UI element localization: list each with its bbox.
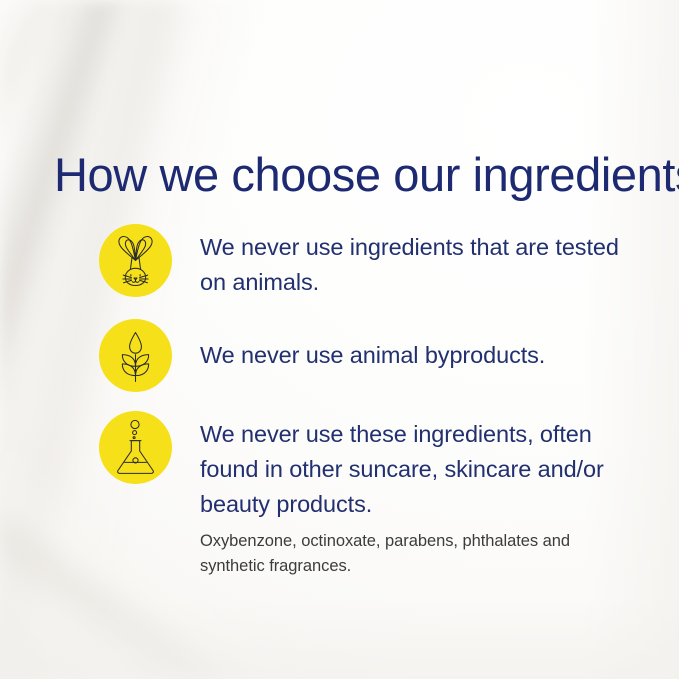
plant-leaf-icon <box>99 319 172 392</box>
content-wrapper: How we choose our ingredients <box>0 0 679 679</box>
list-item-subtext: Oxybenzone, octinoxate, parabens, phthal… <box>200 529 620 579</box>
list-item-text: We never use animal byproducts. <box>200 338 620 373</box>
list-item-body: We never use these ingredients, often fo… <box>200 417 620 522</box>
list-item-text: We never use ingredients that are tested… <box>200 230 620 300</box>
list-item-text: We never use these ingredients, often fo… <box>200 417 620 579</box>
ingredients-infographic: How we choose our ingredients <box>0 0 679 679</box>
list-item-body: We never use ingredients that are tested… <box>200 230 620 300</box>
bunny-heart-ears-icon <box>99 224 172 297</box>
page-title: How we choose our ingredients <box>54 150 679 201</box>
list-item-body: We never use animal byproducts. <box>200 338 620 373</box>
erlenmeyer-flask-icon <box>99 411 172 484</box>
